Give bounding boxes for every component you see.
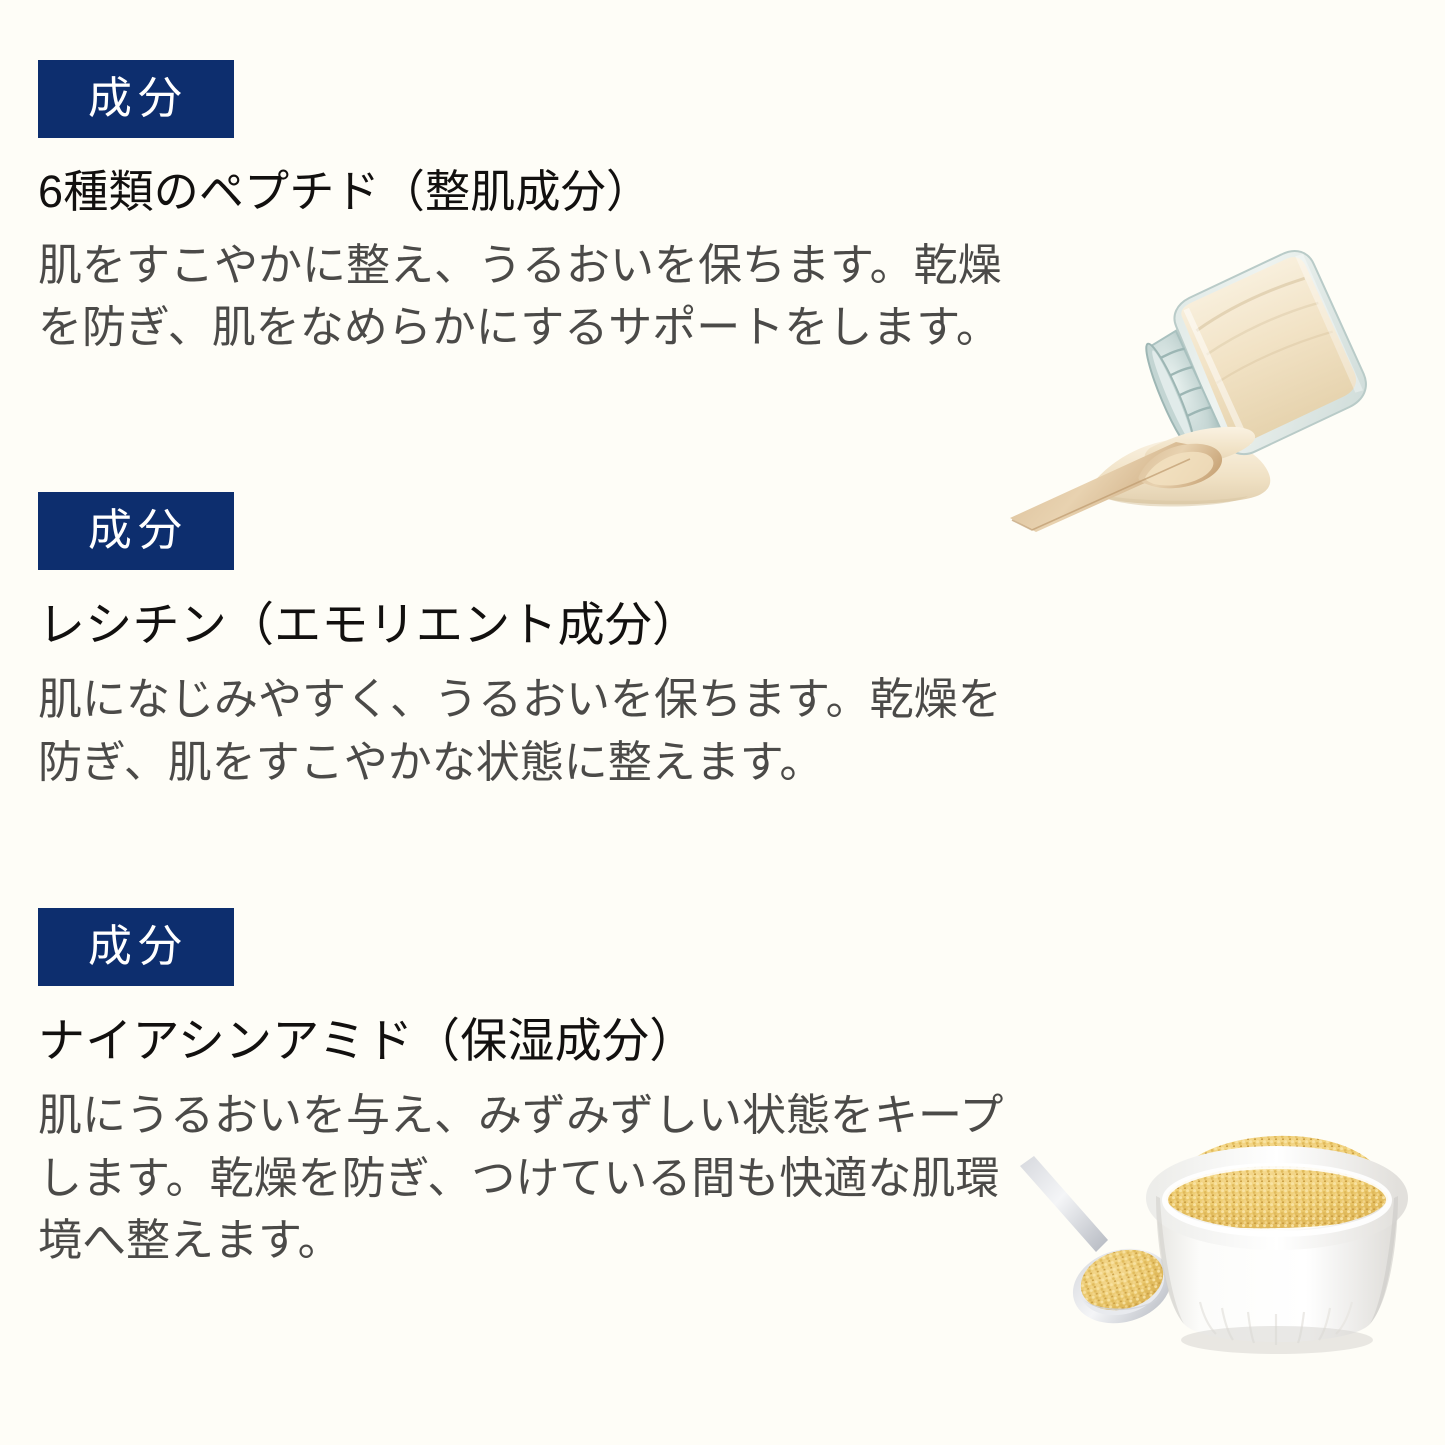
ingredient-title: レシチン（エモリエント成分）	[38, 595, 1028, 655]
ingredient-feature-page: 成分 6種類のペプチド（整肌成分） 肌をすこやかに整え、うるおいを保ちます。乾燥…	[0, 0, 1445, 1445]
ingredient-description: 肌になじみやすく、うるおいを保ちます。乾燥を防ぎ、肌をすこやかな状態に整えます。	[38, 669, 1023, 794]
ingredient-text-column: 成分 6種類のペプチド（整肌成分） 肌をすこやかに整え、うるおいを保ちます。乾燥…	[38, 60, 1028, 360]
ingredient-text-column: 成分 ナイアシンアミド（保湿成分） 肌にうるおいを与え、みずみずしい状態をキープ…	[38, 908, 1028, 1273]
ingredient-badge: 成分	[38, 908, 234, 986]
ingredient-badge: 成分	[38, 492, 234, 570]
ingredient-description: 肌をすこやかに整え、うるおいを保ちます。乾燥を防ぎ、肌をなめらかにするサポートを…	[38, 235, 1023, 360]
ingredient-badge: 成分	[38, 60, 234, 138]
ingredient-description: 肌にうるおいを与え、みずみずしい状態をキープします。乾燥を防ぎ、つけている間も快…	[38, 1085, 1023, 1272]
ingredient-text-column: 成分 レシチン（エモリエント成分） 肌になじみやすく、うるおいを保ちます。乾燥を…	[38, 492, 1028, 794]
ingredient-section-niacinamide: 成分 ナイアシンアミド（保湿成分） 肌にうるおいを与え、みずみずしい状態をキープ…	[0, 908, 1445, 1338]
ingredient-section-peptide: 成分 6種類のペプチド（整肌成分） 肌をすこやかに整え、うるおいを保ちます。乾燥…	[0, 60, 1445, 480]
ingredient-title: 6種類のペプチド（整肌成分）	[38, 163, 1028, 221]
ingredient-title: ナイアシンアミド（保湿成分）	[38, 1011, 1028, 1071]
peptide-powder-jar-photo	[1000, 236, 1430, 536]
ingredient-section-lecithin: 成分 レシチン（エモリエント成分） 肌になじみやすく、うるおいを保ちます。乾燥を…	[0, 492, 1445, 892]
